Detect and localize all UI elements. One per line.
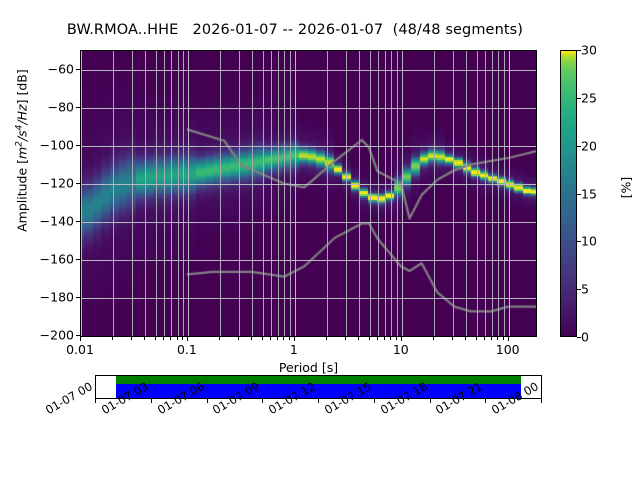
x-minor-tick-mark <box>289 337 290 340</box>
y-major-gridline <box>81 298 536 299</box>
x-tick-mark <box>294 337 295 341</box>
x-minor-tick-mark <box>182 337 183 340</box>
x-minor-tick-mark <box>177 337 178 340</box>
x-minor-gridline <box>132 51 133 336</box>
y-tick-mark <box>76 259 80 260</box>
x-minor-gridline <box>453 51 454 336</box>
timeline-tick-mark <box>318 399 319 403</box>
timeline-tick-mark <box>151 399 152 403</box>
x-minor-tick-mark <box>369 337 370 340</box>
x-minor-tick-mark <box>131 337 132 340</box>
x-minor-gridline <box>370 51 371 336</box>
y-tick-label: −100 <box>0 138 74 153</box>
colorbar-tick-label: 15 <box>581 186 597 201</box>
colorbar <box>560 50 577 337</box>
x-major-gridline <box>81 51 82 336</box>
x-minor-gridline <box>504 51 505 336</box>
x-minor-tick-mark <box>262 337 263 340</box>
timeline-segment-data-coverage <box>116 376 521 384</box>
colorbar-tick-label: 25 <box>581 90 597 105</box>
x-minor-tick-mark <box>345 337 346 340</box>
x-minor-tick-mark <box>155 337 156 340</box>
timeline-tick-mark <box>207 399 208 403</box>
x-minor-gridline <box>466 51 467 336</box>
x-minor-gridline <box>397 51 398 336</box>
x-minor-tick-mark <box>497 337 498 340</box>
timeline-tick-mark <box>485 399 486 403</box>
x-minor-gridline <box>220 51 221 336</box>
colorbar-tick-label: 10 <box>581 234 597 249</box>
x-minor-tick-mark <box>377 337 378 340</box>
y-major-gridline <box>81 146 536 147</box>
x-minor-tick-mark <box>270 337 271 340</box>
x-tick-label: 100 <box>496 342 520 357</box>
x-minor-gridline <box>485 51 486 336</box>
x-minor-gridline <box>239 51 240 336</box>
x-minor-gridline <box>178 51 179 336</box>
timeline-tick-mark <box>262 399 263 403</box>
x-minor-tick-mark <box>112 337 113 340</box>
y-tick-mark <box>76 69 80 70</box>
y-major-gridline <box>81 70 536 71</box>
x-minor-gridline <box>164 51 165 336</box>
x-minor-gridline <box>290 51 291 336</box>
psd-plot-area <box>80 50 537 337</box>
y-tick-label: −60 <box>0 62 74 77</box>
x-tick-mark <box>80 337 81 341</box>
psd-plot-clip <box>81 51 536 336</box>
colorbar-tick-label: 5 <box>581 282 589 297</box>
x-minor-tick-mark <box>283 337 284 340</box>
timeline-tick-mark <box>95 399 96 403</box>
x-minor-tick-mark <box>484 337 485 340</box>
x-minor-tick-mark <box>144 337 145 340</box>
y-tick-label: −80 <box>0 100 74 115</box>
colorbar-tick-mark <box>577 194 581 195</box>
y-tick-label: −120 <box>0 176 74 191</box>
x-minor-tick-mark <box>163 337 164 340</box>
x-minor-gridline <box>171 51 172 336</box>
x-tick-label: 0.01 <box>66 342 94 357</box>
x-minor-tick-mark <box>476 337 477 340</box>
x-minor-gridline <box>252 51 253 336</box>
x-major-gridline <box>402 51 403 336</box>
colorbar-label: [%] <box>619 128 634 248</box>
colorbar-tick-label: 0 <box>581 330 589 345</box>
y-tick-mark <box>76 145 80 146</box>
colorbar-tick-mark <box>577 289 581 290</box>
x-tick-mark <box>187 337 188 341</box>
y-major-gridline <box>81 222 536 223</box>
x-minor-gridline <box>156 51 157 336</box>
x-major-gridline <box>295 51 296 336</box>
x-tick-mark <box>401 337 402 341</box>
x-minor-gridline <box>278 51 279 336</box>
colorbar-tick-mark <box>577 241 581 242</box>
y-tick-mark <box>76 183 80 184</box>
x-minor-tick-mark <box>390 337 391 340</box>
x-minor-gridline <box>113 51 114 336</box>
x-minor-tick-mark <box>503 337 504 340</box>
x-minor-gridline <box>145 51 146 336</box>
colorbar-tick-mark <box>577 50 581 51</box>
y-tick-mark <box>76 107 80 108</box>
figure-title: BW.RMOA..HHE 2026-01-07 -- 2026-01-07 (4… <box>0 22 590 38</box>
x-minor-gridline <box>391 51 392 336</box>
x-minor-tick-mark <box>491 337 492 340</box>
psd-density-canvas <box>81 51 536 336</box>
y-major-gridline <box>81 260 536 261</box>
x-minor-tick-mark <box>465 337 466 340</box>
timeline-tick-mark <box>430 399 431 403</box>
x-minor-tick-mark <box>251 337 252 340</box>
timeline-tick-mark <box>541 399 542 403</box>
x-minor-gridline <box>378 51 379 336</box>
x-minor-gridline <box>263 51 264 336</box>
y-tick-mark <box>76 221 80 222</box>
x-minor-gridline <box>327 51 328 336</box>
x-minor-tick-mark <box>384 337 385 340</box>
x-major-gridline <box>509 51 510 336</box>
y-tick-mark <box>76 297 80 298</box>
x-minor-gridline <box>385 51 386 336</box>
y-tick-label: −140 <box>0 214 74 229</box>
x-minor-tick-mark <box>358 337 359 340</box>
x-minor-tick-mark <box>170 337 171 340</box>
x-minor-gridline <box>492 51 493 336</box>
x-minor-gridline <box>498 51 499 336</box>
x-minor-tick-mark <box>277 337 278 340</box>
y-tick-mark <box>76 335 80 336</box>
x-tick-label: 0.1 <box>177 342 197 357</box>
timeline-tick-label: 01-07 00 <box>43 379 95 417</box>
x-minor-tick-mark <box>396 337 397 340</box>
x-tick-label: 1 <box>290 342 298 357</box>
x-minor-gridline <box>477 51 478 336</box>
x-minor-tick-mark <box>219 337 220 340</box>
x-minor-gridline <box>434 51 435 336</box>
x-minor-tick-mark <box>452 337 453 340</box>
x-minor-gridline <box>359 51 360 336</box>
x-minor-gridline <box>183 51 184 336</box>
colorbar-tick-mark <box>577 146 581 147</box>
x-minor-tick-mark <box>238 337 239 340</box>
colorbar-tick-label: 30 <box>581 43 597 58</box>
colorbar-tick-mark <box>577 98 581 99</box>
y-tick-label: −200 <box>0 328 74 343</box>
x-tick-label: 10 <box>393 342 409 357</box>
x-major-gridline <box>188 51 189 336</box>
x-minor-tick-mark <box>433 337 434 340</box>
x-minor-gridline <box>284 51 285 336</box>
y-major-gridline <box>81 108 536 109</box>
x-tick-mark <box>508 337 509 341</box>
y-tick-label: −180 <box>0 290 74 305</box>
y-major-gridline <box>81 184 536 185</box>
x-minor-tick-mark <box>326 337 327 340</box>
x-minor-gridline <box>271 51 272 336</box>
colorbar-tick-label: 20 <box>581 138 597 153</box>
timeline-tick-mark <box>374 399 375 403</box>
x-minor-gridline <box>346 51 347 336</box>
x-axis-label: Period [s] <box>80 360 537 375</box>
y-tick-label: −160 <box>0 252 74 267</box>
ppsd-figure: BW.RMOA..HHE 2026-01-07 -- 2026-01-07 (4… <box>0 0 640 480</box>
colorbar-tick-mark <box>577 337 581 338</box>
